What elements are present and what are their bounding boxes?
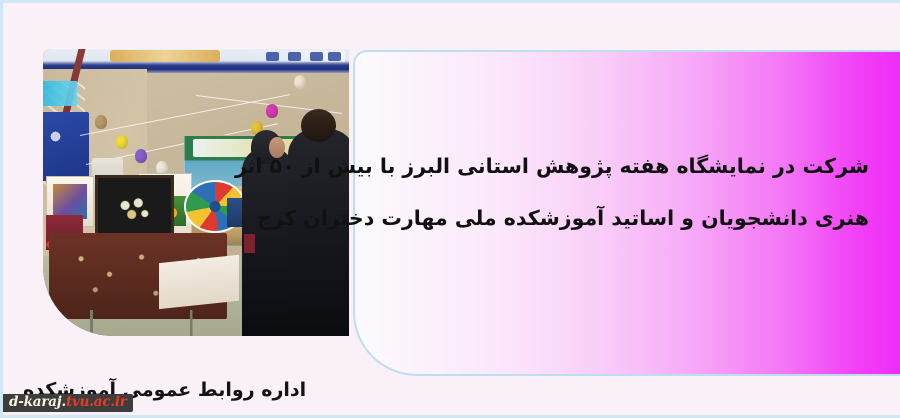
watermark-domain-tld: tvu.ac.ir: [66, 394, 127, 410]
paper-flower: [135, 149, 147, 163]
cyan-sign: [43, 81, 77, 107]
white-tablecloth: [159, 254, 239, 308]
paper-flower: [95, 115, 107, 129]
ceiling-ornament: [110, 50, 220, 62]
banner-logo-icon: [288, 52, 301, 61]
paper-flower: [294, 75, 306, 89]
site-watermark: d-karaj.tvu.ac.ir: [3, 394, 133, 413]
blue-banner: [43, 112, 89, 181]
banner-logo-icon: [310, 52, 323, 61]
paper-flower: [266, 104, 278, 118]
announcement-panel: شرکت در نمایشگاه هفته پژوهش استانی البرز…: [353, 50, 900, 376]
table-legs: [80, 310, 209, 336]
watermark-domain-name: d-karaj.: [9, 394, 66, 410]
poster-canvas: شرکت در نمایشگاه هفته پژوهش استانی البرز…: [0, 0, 900, 418]
visitor-clothing-stripe: [244, 234, 255, 253]
announcement-line-1: شرکت در نمایشگاه هفته پژوهش استانی البرز…: [383, 140, 869, 192]
visitor-head: [301, 109, 336, 142]
banner-logo-icon: [328, 52, 341, 61]
announcement-text-block: شرکت در نمایشگاه هفته پژوهش استانی البرز…: [383, 140, 869, 244]
announcement-line-2: هنری دانشجویان و اساتید آموزشکده ملی مها…: [383, 192, 869, 244]
banner-logo-icon: [266, 52, 279, 61]
ceiling-logo-strip: [253, 51, 345, 62]
